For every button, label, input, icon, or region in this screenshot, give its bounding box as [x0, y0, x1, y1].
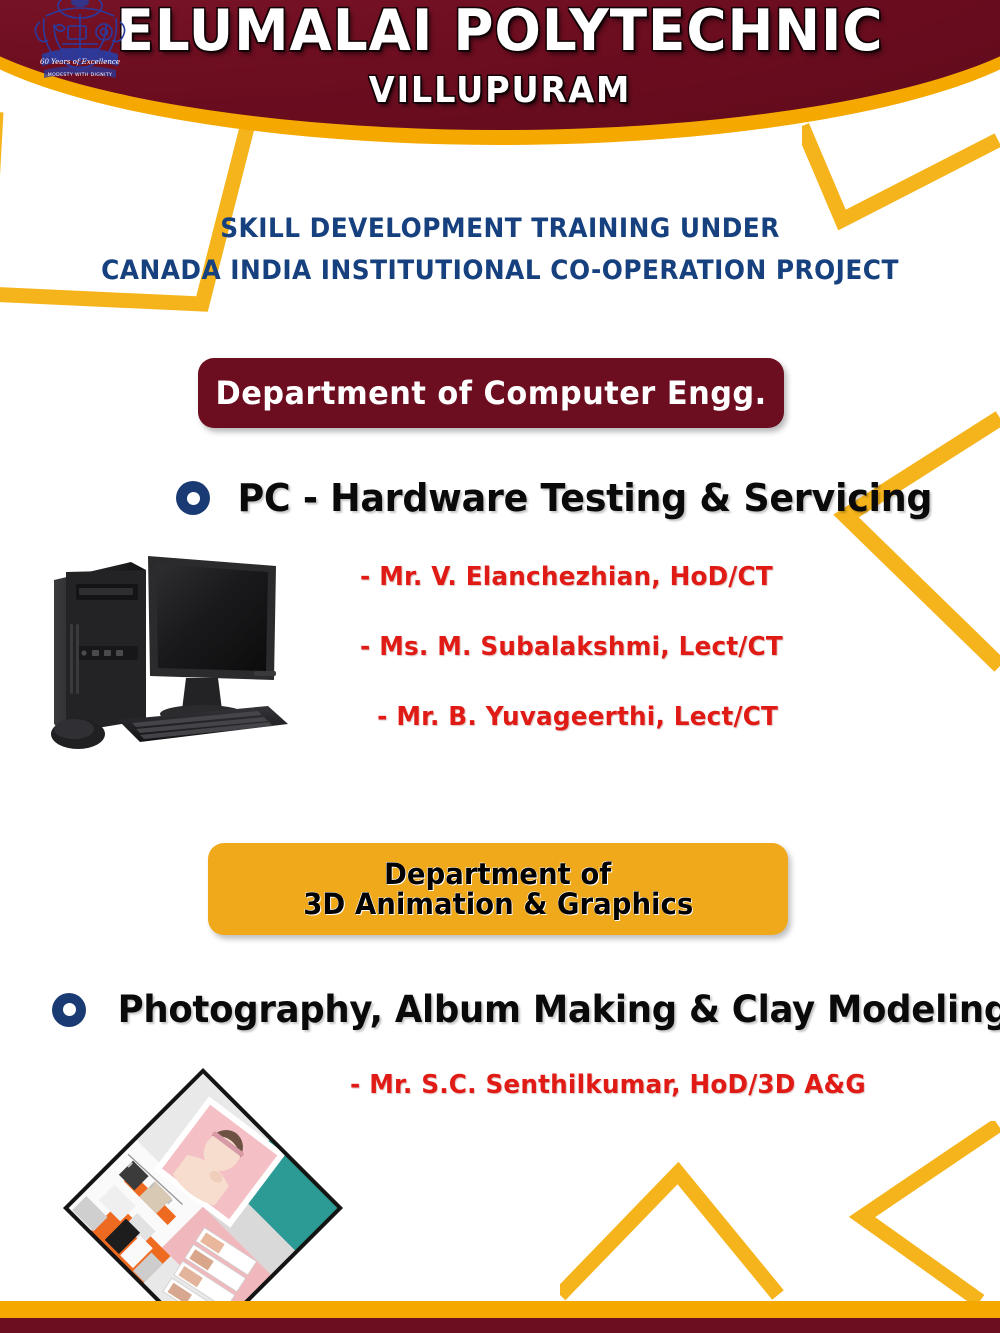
subtitle-line-1: SKILL DEVELOPMENT TRAINING UNDER [40, 208, 960, 250]
course-title-photography: Photography, Album Making & Clay Modelin… [118, 988, 1000, 1031]
course-row-photography: Photography, Album Making & Clay Modelin… [52, 988, 1000, 1031]
dept-banner-3d-animation-line-1: Department of [384, 859, 611, 889]
faculty-item: - Mr. V. Elanchezhian, HoD/CT [360, 562, 783, 592]
subtitle-line-2: CANADA INDIA INSTITUTIONAL CO-OPERATION … [40, 250, 960, 292]
dept-banner-3d-animation: Department of 3D Animation & Graphics [208, 843, 788, 935]
dept-banner-computer-engg-label: Department of Computer Engg. [215, 374, 766, 412]
footer-maroon-bar [0, 1318, 1000, 1333]
course-title-pc-hardware: PC - Hardware Testing & Servicing [237, 476, 932, 520]
decor-chevron-bottom-right [780, 1121, 1000, 1311]
faculty-item: - Mr. B. Yuvageerthi, Lect/CT [360, 702, 783, 732]
faculty-item: - Mr. S.C. Senthilkumar, HoD/3D A&G [350, 1070, 866, 1100]
logo-ribbon-text: 60 Years of Excellence [40, 58, 120, 66]
faculty-list-computer-engg: - Mr. V. Elanchezhian, HoD/CT - Ms. M. S… [360, 562, 805, 772]
desktop-computer-photo [36, 528, 336, 768]
ring-bullet-icon [176, 481, 210, 515]
decor-chevron-middle-right [800, 400, 1000, 700]
college-crest-logo: 60 Years of Excellence MODESTY WITH DIGN… [24, 0, 136, 88]
institution-name: ELUMALAI POLYTECHNIC [20, 2, 980, 60]
dept-banner-3d-animation-line-2: 3D Animation & Graphics [303, 889, 693, 919]
footer-gold-bar [0, 1301, 1000, 1319]
program-subtitle: SKILL DEVELOPMENT TRAINING UNDER CANADA … [0, 208, 1000, 292]
faculty-item: - Ms. M. Subalakshmi, Lect/CT [360, 632, 783, 662]
decor-chevron-bottom-left-peak [560, 1155, 830, 1305]
logo-motto-text: MODESTY WITH DIGNITY [48, 72, 112, 78]
photo-album-collage [28, 1058, 378, 1333]
poster-canvas: 60 Years of Excellence MODESTY WITH DIGN… [0, 0, 1000, 1333]
institution-city: VILLUPURAM [35, 70, 965, 111]
course-row-pc-hardware: PC - Hardware Testing & Servicing [176, 476, 947, 520]
dept-banner-computer-engg: Department of Computer Engg. [198, 358, 784, 428]
faculty-list-3d-animation: - Mr. S.C. Senthilkumar, HoD/3D A&G [350, 1070, 893, 1140]
ring-bullet-icon [52, 993, 86, 1027]
